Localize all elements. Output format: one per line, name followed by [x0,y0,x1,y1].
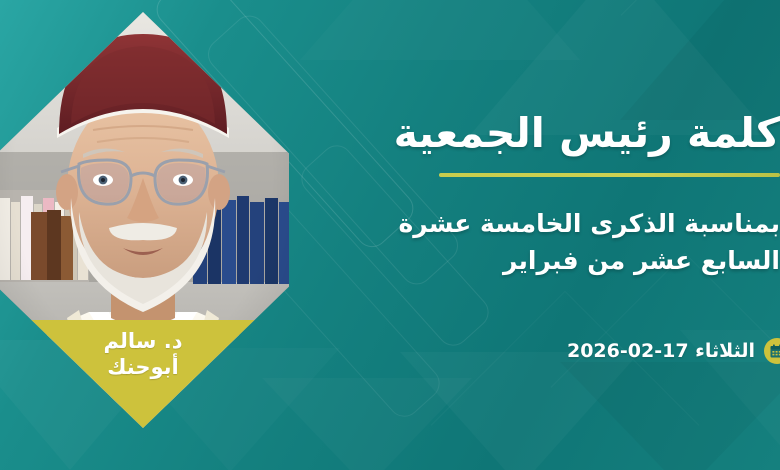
speaker-name-badge: د. سالم أبوحنك [0,320,289,428]
poster-subtitle: بمناسبة الذكرى الخامسة عشرة السابع عشر م… [288,206,780,279]
speaker-portrait-diamond: د. سالم أبوحنك [0,12,289,428]
subtitle-line-2: السابع عشر من فبراير [288,243,780,280]
page-title: كلمة رئيس الجمعية [288,108,780,158]
subtitle-line-1: بمناسبة الذكرى الخامسة عشرة [288,206,780,243]
calendar-icon [764,338,780,364]
speaker-name-line-2: أبوحنك [107,355,179,381]
speaker-name-line-1: د. سالم [104,329,183,355]
poster-canvas: د. سالم أبوحنك كلمة رئيس الجمعية بمناسبة… [0,0,780,470]
event-date-text: الثلاثاء 17-02-2026 [567,340,755,362]
poster-text-content: كلمة رئيس الجمعية بمناسبة الذكرى الخامسة… [288,0,780,470]
title-underline [439,173,780,177]
event-date-row: الثلاثاء 17-02-2026 [567,338,780,364]
